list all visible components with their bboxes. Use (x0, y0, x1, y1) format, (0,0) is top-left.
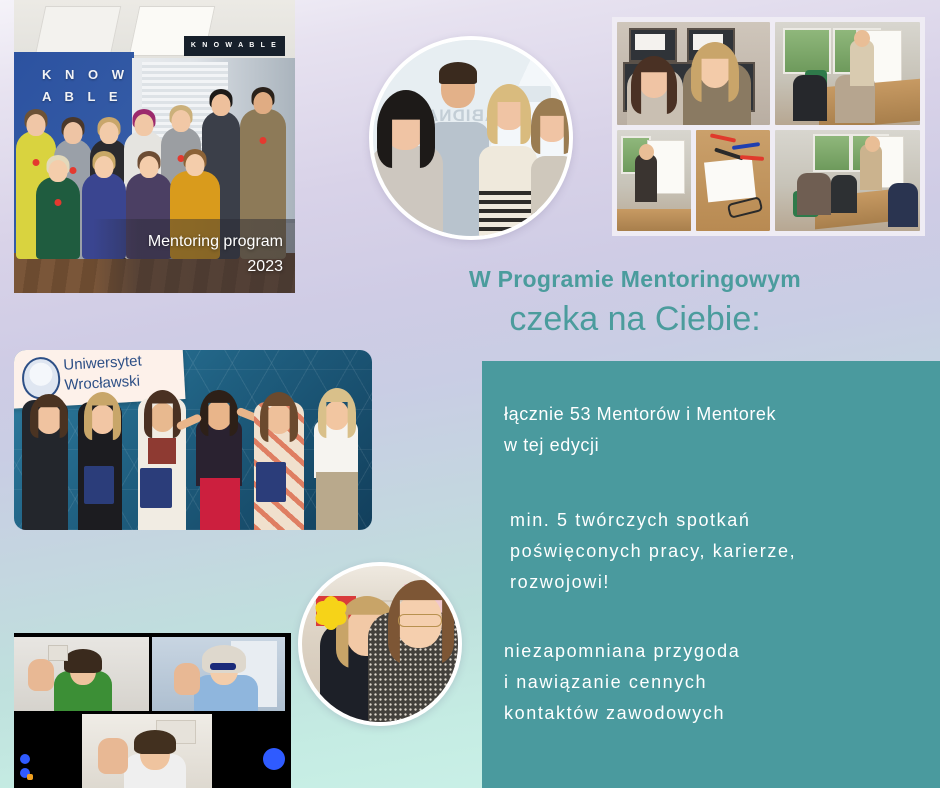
pen-blue (732, 142, 760, 150)
pen-black (714, 147, 744, 160)
headline-line-1: W Programie Mentoringowym (400, 264, 870, 294)
collage-cell-room-3 (775, 130, 920, 231)
photo-group-office: K N O W A B L E K N O W A B L E Mentorin… (14, 0, 295, 293)
grad-6-head (324, 401, 349, 430)
room2-table (617, 209, 691, 231)
room1-attendee-1 (793, 75, 827, 121)
room1-presenter-head (854, 30, 870, 47)
photo-university-graduates: Uniwersytet Wrocławski (14, 350, 372, 530)
grad-2-head (90, 405, 115, 434)
wall-note-1 (635, 34, 665, 50)
flower-icon (310, 594, 352, 636)
photo-caption-mentoring-program: Mentoring program 2023 (93, 219, 295, 293)
headline-line-2: czeka na Ciebie: (400, 296, 870, 342)
video-call-join-button[interactable] (263, 748, 285, 770)
room3-presenter-head (865, 136, 880, 152)
grad-2-diploma (84, 466, 114, 504)
vc1-wall-frame (48, 645, 68, 661)
grad-5-head (266, 404, 292, 434)
room1-window-left (783, 28, 831, 74)
university-graduates-row (14, 380, 372, 530)
vc1-waving-hand (28, 659, 54, 691)
vc3-waving-hand (98, 738, 128, 774)
room2-presenter (635, 154, 657, 202)
collage-cell-pair (617, 130, 770, 231)
grad-1-head (36, 404, 62, 434)
video-call-top-row (14, 637, 291, 711)
photo-collage-workshop (612, 17, 925, 236)
video-tile-participant-3 (82, 714, 212, 788)
video-tile-participant-2 (152, 637, 285, 711)
grad-3-head (150, 403, 175, 432)
grad-4-trousers (200, 478, 240, 530)
room2-presenter-head (639, 144, 654, 160)
knowable-logo-badge: K N O W A B L E (184, 36, 285, 56)
grad-3-diploma (140, 468, 172, 508)
collage-cell-room-1 (775, 22, 920, 125)
pen-red (710, 133, 736, 142)
room3-attendee-1 (797, 173, 831, 215)
pens-paper (704, 158, 756, 203)
benefit-item-meetings: min. 5 twórczych spotkań poświęconych pr… (504, 505, 912, 598)
caption-line-2: 2023 (107, 254, 283, 279)
vc1-hair (64, 649, 102, 673)
grad-5-diploma (256, 462, 286, 502)
benefits-panel: łącznie 53 Mentorów i Mentorek w tej edy… (482, 361, 940, 788)
lobby-person-man-hair (439, 62, 477, 84)
room3-attendee-2 (831, 175, 857, 213)
collage-cell-room-2 (617, 130, 691, 231)
room3-window-a (813, 134, 851, 172)
grad-4-head (206, 400, 232, 430)
collage-cell-selfie (617, 22, 770, 125)
video-call-icon-1[interactable] (20, 754, 30, 764)
vc2-glasses-icon (210, 663, 236, 670)
photo-video-call (14, 633, 291, 788)
caption-line-1: Mentoring program (107, 229, 283, 254)
poster-canvas: K N O W A B L E K N O W A B L E Mentorin… (0, 0, 940, 788)
collage-cell-pens (696, 130, 770, 231)
vc3-hair (134, 730, 176, 754)
lobby-person-woman3-body (531, 156, 573, 240)
grad-3-top (148, 438, 176, 464)
photo-circle-duo-mentor-mentee (298, 562, 462, 726)
lobby-person-woman2-stripes (479, 186, 537, 240)
headline-block: W Programie Mentoringowym czeka na Ciebi… (400, 264, 870, 342)
video-call-icon-2[interactable] (20, 768, 30, 778)
room3-attendee-3 (888, 183, 918, 227)
vc2-waving-hand (174, 663, 200, 695)
benefit-item-mentors-count: łącznie 53 Mentorów i Mentorek w tej edy… (504, 399, 912, 461)
video-tile-participant-1 (14, 637, 149, 711)
grad-6-trousers (316, 472, 358, 530)
photo-circle-lobby-selfie: RABIDNA (369, 36, 573, 240)
benefit-item-adventure: niezapomniana przygoda i nawiązanie cenn… (504, 636, 912, 729)
duo-glasses-icon (398, 614, 442, 627)
